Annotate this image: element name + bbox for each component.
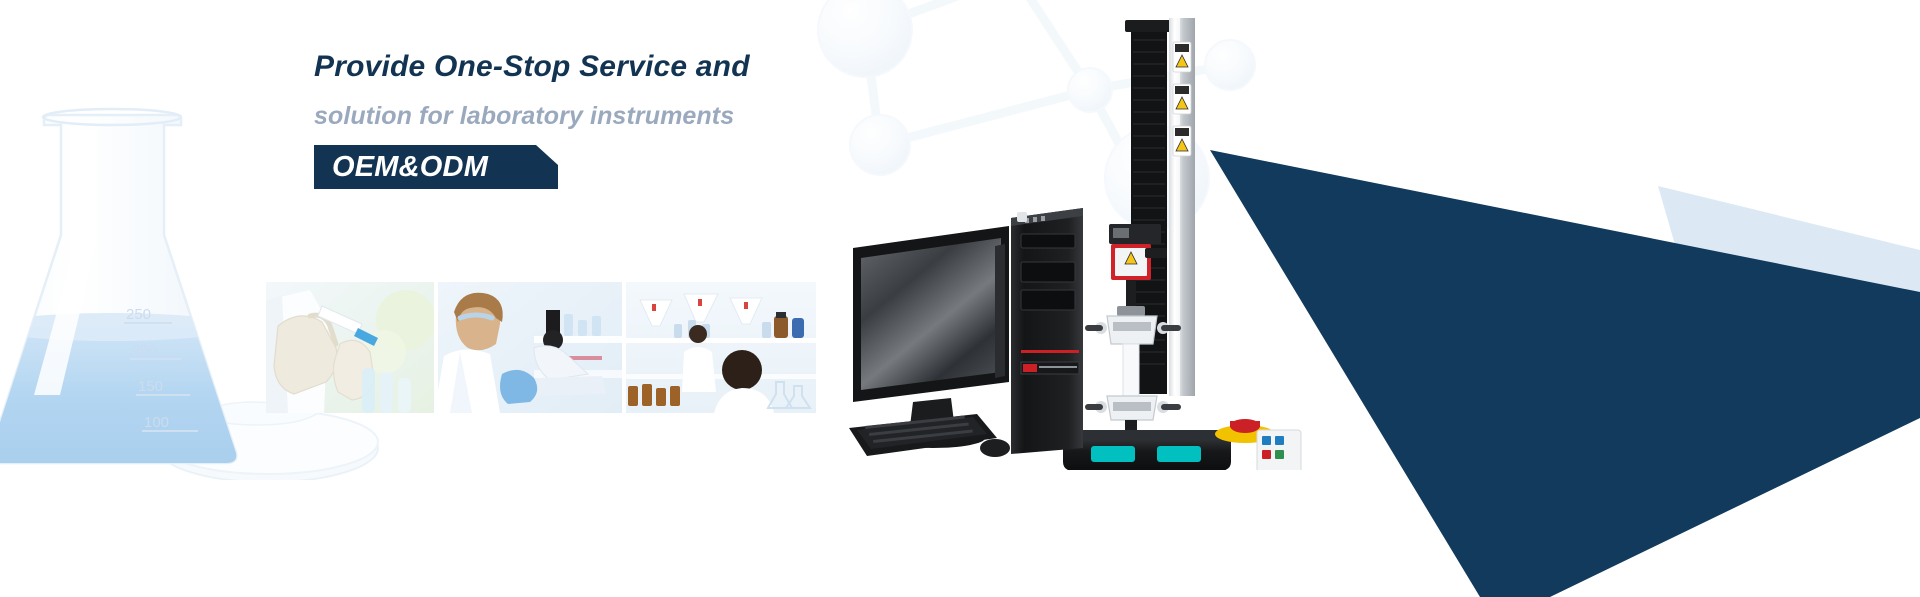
headline-line-1: Provide One-Stop Service and [314, 52, 954, 82]
oem-odm-tag-label: OEM&ODM [314, 145, 528, 189]
warning-label-group [1173, 42, 1191, 156]
monitor-bezel [853, 226, 1009, 402]
flask-graduation-200: 200 [132, 342, 157, 359]
promo-banner: 250 200 150 100 Provide One-Stop Service… [0, 0, 1920, 597]
monitor-stand-base [881, 428, 985, 448]
flask-graduation-250: 250 [126, 306, 151, 323]
machine-accent-right [1157, 446, 1201, 462]
geometric-accents [1180, 0, 1920, 597]
flask-graduation-150: 150 [138, 378, 163, 395]
monitor-screen [861, 238, 1001, 390]
photo-strip [266, 282, 816, 413]
light-blue-arrow-accent [1658, 186, 1920, 408]
mouse [980, 439, 1010, 457]
pc-tower [1011, 208, 1083, 454]
photo-pipetting-test-tubes [266, 282, 434, 413]
navy-arrow-accent [1210, 150, 1920, 597]
emergency-stop-button [1230, 419, 1260, 433]
photo-microscope-researcher [438, 282, 622, 413]
photo-laboratory-workers [626, 282, 816, 413]
headline-block: Provide One-Stop Service and solution fo… [314, 52, 954, 189]
headline-line-2: solution for laboratory instruments [314, 104, 954, 129]
oem-odm-tag: OEM&ODM [314, 145, 528, 189]
flask-graduation-100: 100 [144, 414, 169, 431]
keyboard [849, 414, 997, 456]
machine-accent-left [1091, 446, 1135, 462]
